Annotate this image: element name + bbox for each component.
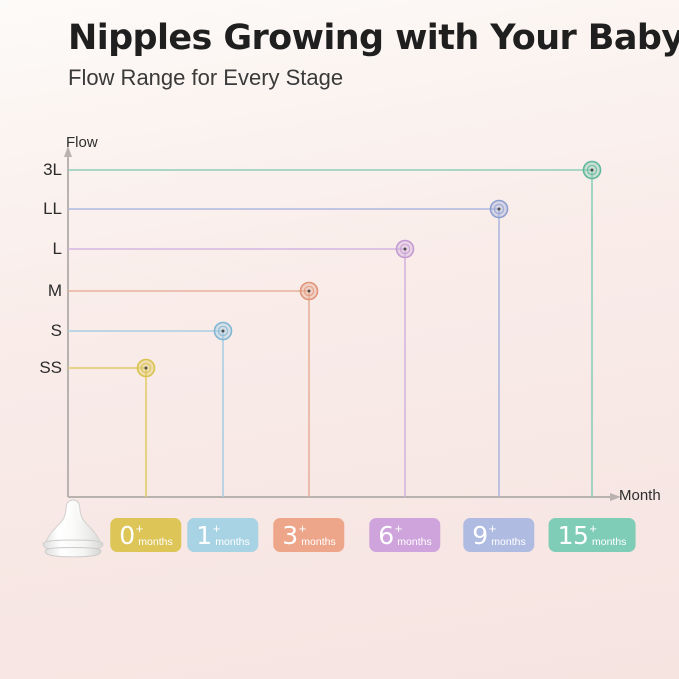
badge-plus-sign: + — [589, 522, 597, 535]
series-SS — [68, 368, 146, 497]
data-point-SS[interactable] — [138, 360, 155, 377]
nipple-icon — [36, 498, 110, 562]
marker-center-L — [404, 248, 407, 251]
y-tick-label-L: L — [20, 239, 62, 259]
data-point-S[interactable] — [215, 323, 232, 340]
y-tick-label-M: M — [20, 281, 62, 301]
badge-months-label: months — [592, 537, 626, 548]
badge-plus-sign: + — [299, 522, 307, 535]
badge-plus-sign: + — [213, 522, 221, 535]
y-tick-label-LL: LL — [20, 199, 62, 219]
stage-badge-6plus[interactable]: 6+months — [369, 518, 440, 552]
stage-badge-15plus[interactable]: 15+months — [549, 518, 636, 552]
baby-bottle-nipple-illustration — [36, 498, 110, 562]
series-LL — [68, 209, 499, 497]
data-point-M[interactable] — [301, 283, 318, 300]
y-tick-label-3L: 3L — [20, 160, 62, 180]
badge-months-label: months — [491, 537, 525, 548]
marker-center-LL — [498, 208, 501, 211]
badge-plus-sign: + — [136, 522, 144, 535]
data-point-3L[interactable] — [584, 162, 601, 179]
badge-months-label: months — [215, 537, 249, 548]
marker-center-3L — [591, 169, 594, 172]
infographic-poster: Nipples Growing with Your Baby Flow Rang… — [0, 0, 679, 679]
y-tick-label-S: S — [20, 321, 62, 341]
flow-chart: Flow Month SSSMLLL3L 0+months1+months3+m… — [0, 0, 679, 679]
badge-months-label: months — [397, 537, 431, 548]
stage-badge-1plus[interactable]: 1+months — [187, 518, 258, 552]
badge-month-number: 6 — [378, 523, 393, 548]
badge-months-label: months — [301, 537, 335, 548]
badge-months-label: months — [138, 537, 172, 548]
badge-month-number: 0 — [119, 523, 134, 548]
y-axis-caption: Flow — [66, 134, 98, 151]
badge-plus-sign: + — [395, 522, 403, 535]
chart-canvas — [0, 0, 679, 679]
series-L — [68, 249, 405, 497]
y-axis-tick-labels: SSSMLLL3L — [16, 0, 62, 679]
badge-month-number: 3 — [282, 523, 297, 548]
y-tick-label-SS: SS — [20, 358, 62, 378]
series-M — [68, 291, 309, 497]
badge-month-number: 15 — [558, 523, 589, 548]
marker-center-M — [308, 290, 311, 293]
x-axis-caption: Month — [619, 487, 661, 504]
stage-badge-0plus[interactable]: 0+months — [110, 518, 181, 552]
badge-plus-sign: + — [489, 522, 497, 535]
stage-badge-9plus[interactable]: 9+months — [463, 518, 534, 552]
badge-month-number: 9 — [472, 523, 487, 548]
marker-center-S — [222, 330, 225, 333]
marker-center-SS — [145, 367, 148, 370]
badge-month-number: 1 — [196, 523, 211, 548]
stage-badge-3plus[interactable]: 3+months — [273, 518, 344, 552]
data-point-LL[interactable] — [491, 201, 508, 218]
data-point-L[interactable] — [397, 241, 414, 258]
